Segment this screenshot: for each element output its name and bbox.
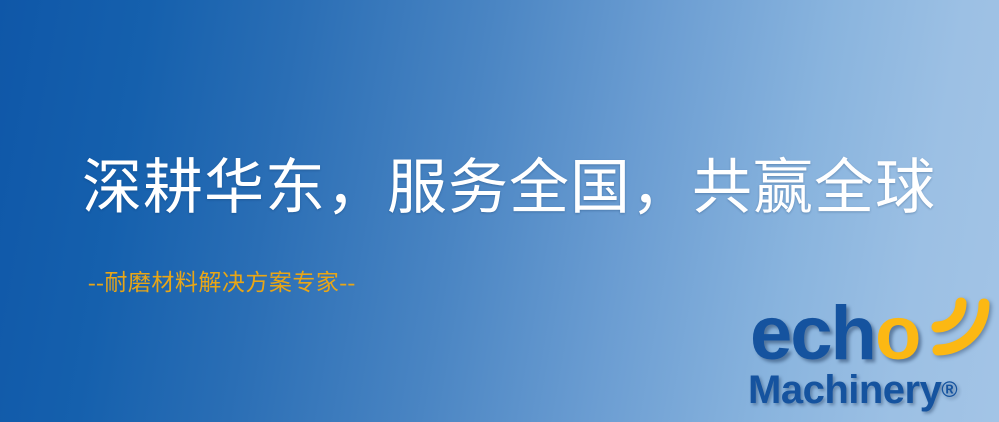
- signal-wave-inner: [937, 303, 961, 327]
- logo-wordmark: echo: [750, 296, 919, 372]
- registered-trademark-icon: ®: [941, 377, 957, 402]
- banner-headline: 深耕华东，服务全国，共赢全球: [82, 152, 936, 224]
- logo-subtext: Machinery®: [748, 368, 958, 412]
- logo-wordmark-o: o: [875, 291, 919, 376]
- banner-subtitle: --耐磨材料解决方案专家--: [88, 268, 356, 298]
- logo-wordmark-prefix: ech: [750, 291, 875, 376]
- signal-waves-icon: [928, 294, 999, 358]
- echo-machinery-logo: echo Machinery®: [742, 296, 999, 422]
- promo-banner: 深耕华东，服务全国，共赢全球 --耐磨材料解决方案专家-- echo Machi…: [0, 0, 999, 422]
- logo-subtext-label: Machinery: [748, 368, 941, 412]
